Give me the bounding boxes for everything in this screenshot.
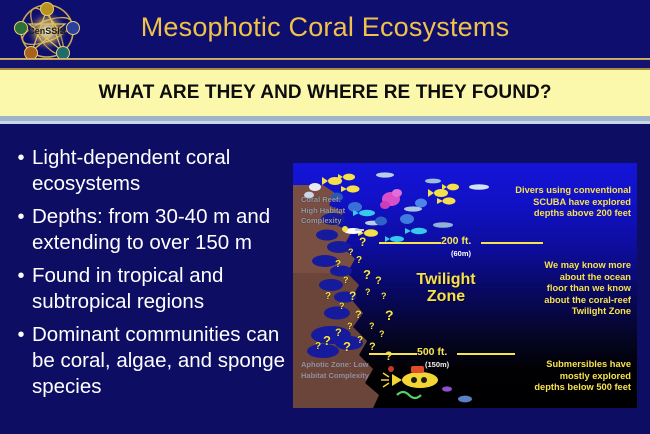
bullet-marker: • — [10, 322, 32, 400]
list-item-label: Dominant communities can be coral, algae… — [32, 322, 295, 400]
note-submersibles: Submersibles have mostly explored depths… — [534, 359, 631, 394]
aphotic-zone-label: Aphotic Zone: Low Habitat Complexity — [301, 360, 369, 381]
list-item: • Found in tropical and subtropical regi… — [10, 263, 295, 315]
depth-label-feet: 200 ft. — [441, 235, 471, 247]
header-navy-rule — [0, 60, 650, 68]
twilight-zone-label: Twilight Zone — [401, 271, 491, 305]
depth-label-feet: 500 ft. — [417, 346, 447, 358]
depth-label-meters: (60m) — [451, 249, 471, 258]
depth-line-right — [457, 353, 515, 355]
subtitle-banner: WHAT ARE THEY AND WHERE RE THEY FOUND? — [0, 70, 650, 116]
coral-reef-label: Coral Reef: High Habitat Complexity — [301, 195, 345, 227]
slide: CenSSIS Mesophotic Coral Ecosystems WHAT… — [0, 0, 650, 434]
depth-line-left — [379, 242, 441, 244]
list-item: • Dominant communities can be coral, alg… — [10, 322, 295, 400]
list-item-label: Found in tropical and subtropical region… — [32, 263, 295, 315]
bullet-marker: • — [10, 145, 32, 197]
list-item-label: Light-dependent coral ecosystems — [32, 145, 295, 197]
banner-rule-light — [0, 121, 650, 124]
slide-header: CenSSIS Mesophotic Coral Ecosystems — [0, 0, 650, 58]
depth-line-right — [481, 242, 543, 244]
list-item: • Light-dependent coral ecosystems — [10, 145, 295, 197]
bullet-marker: • — [10, 263, 32, 315]
list-item: • Depths: from 30-40 m and extending to … — [10, 204, 295, 256]
depth-label-meters: (150m) — [425, 360, 449, 369]
bullet-list: • Light-dependent coral ecosystems • Dep… — [10, 145, 295, 407]
depth-line-left — [369, 353, 417, 355]
coral-reef-twilight-zone-diagram: ? ? ? ? ? ? ? ? ? ? ? ? ? ? ? ? ? ? ? ? … — [293, 163, 637, 408]
depth-marker-200ft: 200 ft. (60m) — [379, 235, 579, 261]
page-title: Mesophotic Coral Ecosystems — [0, 12, 650, 43]
bullet-marker: • — [10, 204, 32, 256]
note-unknown: We may know more about the ocean floor t… — [544, 260, 631, 318]
note-scuba: Divers using conventional SCUBA have exp… — [515, 185, 631, 220]
subtitle-text: WHAT ARE THEY AND WHERE RE THEY FOUND? — [98, 82, 551, 104]
list-item-label: Depths: from 30-40 m and extending to ov… — [32, 204, 295, 256]
